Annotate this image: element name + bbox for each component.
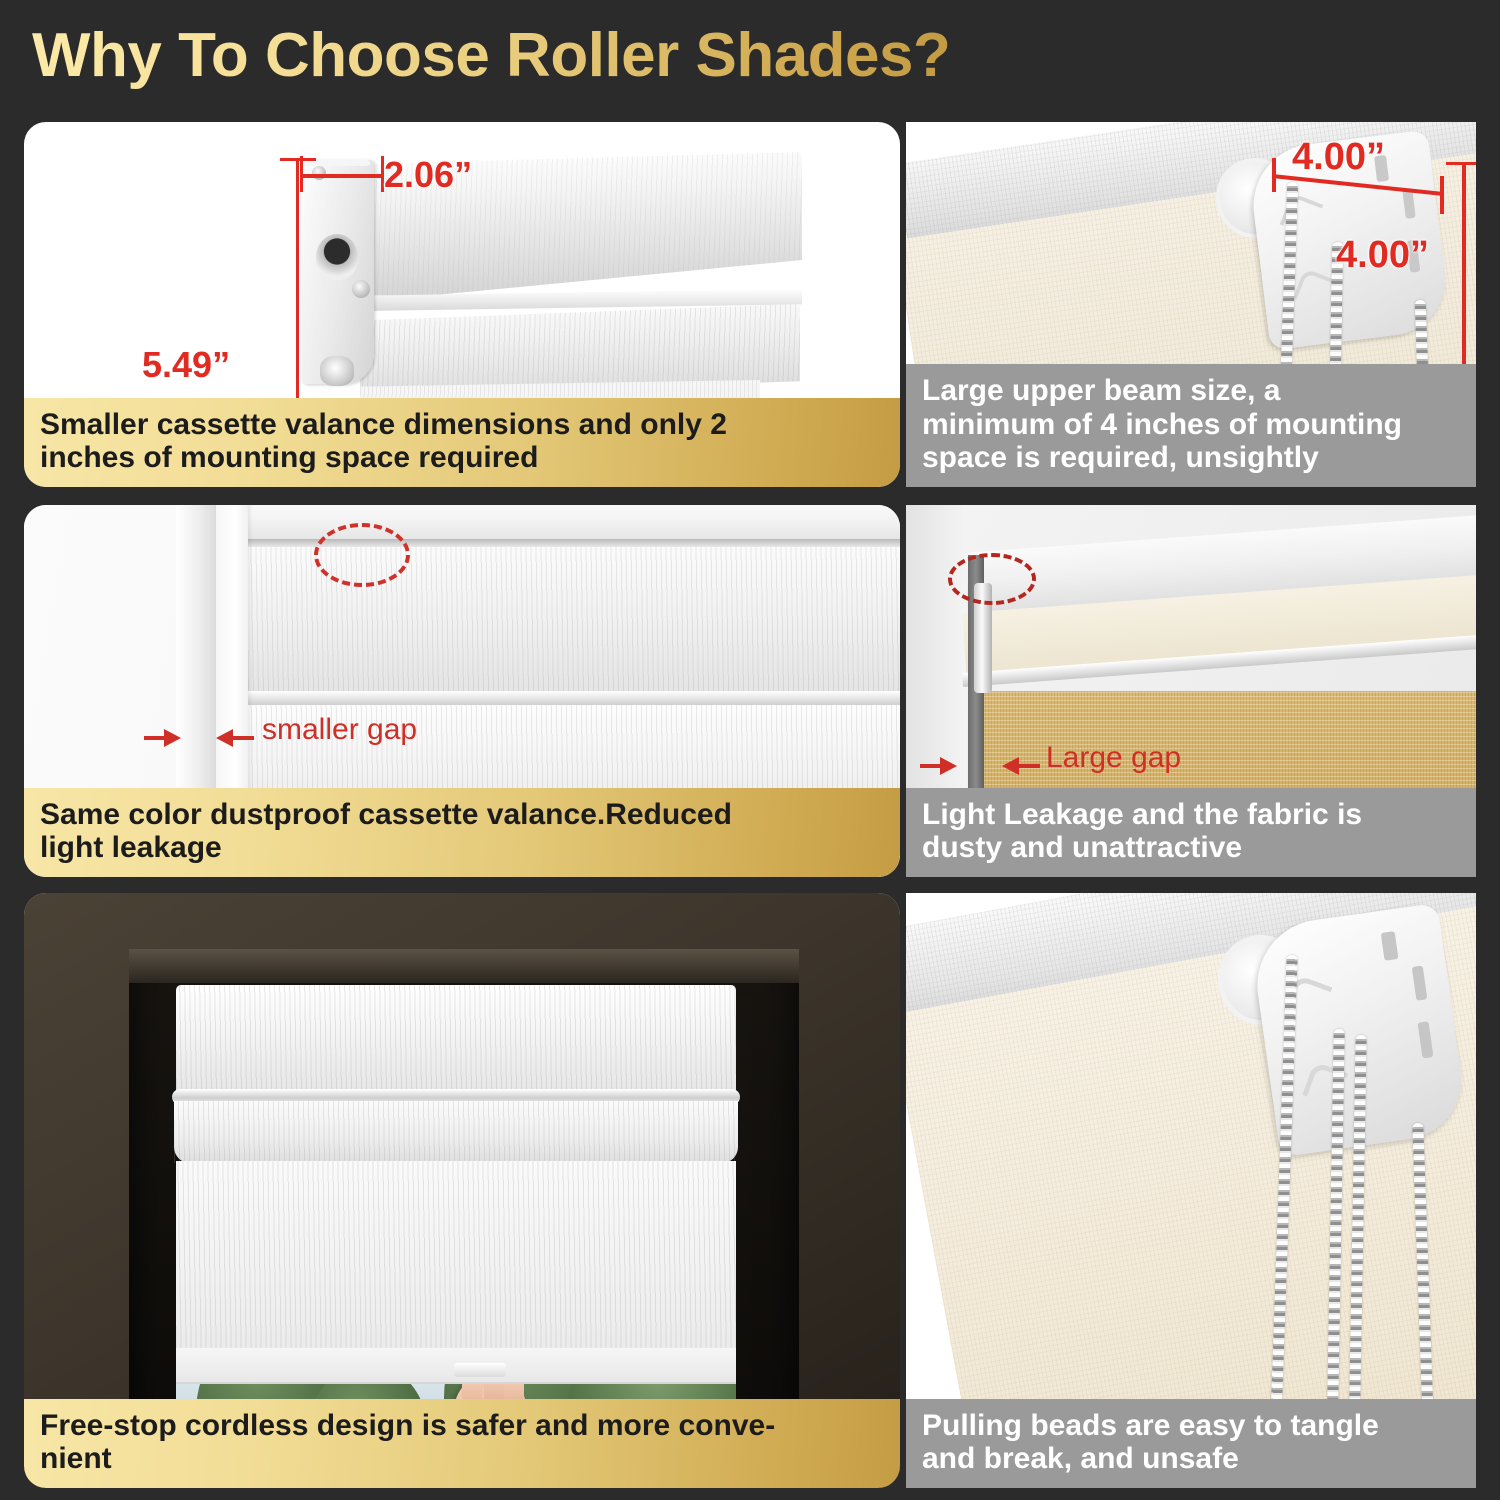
dimension-label-height: 5.49”: [142, 344, 230, 386]
shade-roll: [174, 1101, 738, 1163]
page-title: Why To Choose Roller Shades?: [32, 20, 950, 91]
window-frame-outer: [176, 505, 216, 817]
screw-icon: [352, 280, 370, 298]
shade-valance: [176, 985, 736, 1093]
caption-line: space is required, unsightly: [922, 441, 1462, 475]
caption-large-upper-beam: Large upper beam size, a minimum of 4 in…: [906, 364, 1476, 487]
window-frame-inner: [216, 505, 248, 817]
shade-pull-tab[interactable]: [454, 1363, 506, 1377]
gap-label-smaller: smaller gap: [262, 713, 417, 747]
valance-divider: [248, 691, 900, 705]
caption-line: and break, and unsafe: [922, 1442, 1462, 1476]
cord-slot-icon: [316, 234, 358, 280]
panel-cordless-design: Free-stop cordless design is safer and m…: [24, 893, 900, 1488]
caption-line: Smaller cassette valance dimensions and …: [40, 408, 886, 442]
comparison-grid: 2.06” 5.49” Smaller cassette valance dim…: [0, 112, 1500, 1500]
caption-light-leakage: Light Leakage and the fabric is dusty an…: [906, 788, 1476, 877]
caption-line: Pulling beads are easy to tangle: [922, 1409, 1462, 1443]
shade-fabric: [176, 1161, 736, 1369]
caption-line: Large upper beam size, a: [922, 374, 1462, 408]
panel-pulling-beads: Pulling beads are easy to tangle and bre…: [906, 893, 1476, 1488]
caption-smaller-cassette: Smaller cassette valance dimensions and …: [24, 398, 900, 487]
dimension-tick-right: [1440, 176, 1444, 214]
caption-line: inches of mounting space required: [40, 441, 886, 475]
caption-smaller-gap: Same color dustproof cassette valance.Re…: [24, 788, 900, 877]
valance-end-cap: [302, 160, 374, 384]
caption-line: Light Leakage and the fabric is: [922, 798, 1462, 832]
dimension-label-beam-width: 4.00”: [1292, 136, 1385, 179]
screw-icon: [320, 356, 354, 386]
caption-line: minimum of 4 inches of mounting: [922, 408, 1462, 442]
page-header: Why To Choose Roller Shades?: [0, 0, 1500, 110]
dimension-label-width: 2.06”: [384, 154, 472, 196]
gap-label-large: Large gap: [1046, 741, 1181, 775]
caption-line: Same color dustproof cassette valance.Re…: [40, 798, 886, 832]
panel-smaller-gap: smaller gap Same color dustproof cassett…: [24, 505, 900, 877]
caption-cordless-design: Free-stop cordless design is safer and m…: [24, 1399, 900, 1488]
caption-pulling-beads: Pulling beads are easy to tangle and bre…: [906, 1399, 1476, 1488]
dimension-line-width: [300, 174, 384, 178]
highlight-circle-icon: [948, 553, 1036, 605]
window-lintel: [216, 505, 900, 539]
panel-large-gap: Large gap Light Leakage and the fabric i…: [906, 505, 1476, 877]
bracket-emboss-icon: [1293, 268, 1334, 309]
dimension-tick-top: [1446, 162, 1476, 165]
highlight-circle-icon: [314, 523, 410, 587]
caption-line: Free-stop cordless design is safer and m…: [40, 1409, 886, 1443]
caption-line: light leakage: [40, 831, 886, 865]
dimension-tick-top: [280, 158, 316, 161]
caption-line: nient: [40, 1442, 886, 1476]
dimension-label-beam-height: 4.00”: [1336, 234, 1429, 277]
panel-large-upper-beam: 4.00” 4.00” Large upper beam size, a min…: [906, 122, 1476, 487]
caption-line: dusty and unattractive: [922, 831, 1462, 865]
window-recess-top: [129, 949, 799, 983]
panel-smaller-cassette: 2.06” 5.49” Smaller cassette valance dim…: [24, 122, 900, 487]
